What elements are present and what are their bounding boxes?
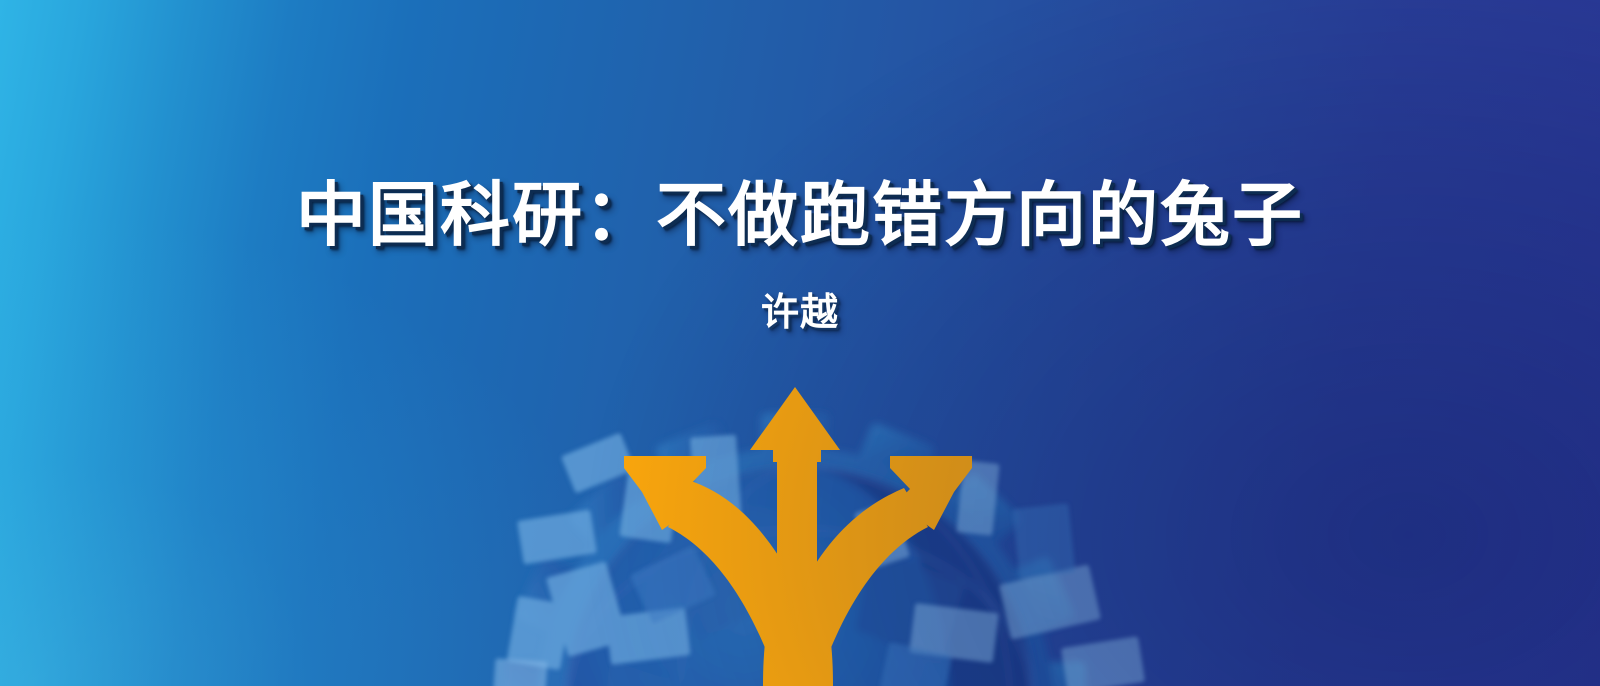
author-name: 许越: [0, 291, 1600, 337]
presentation-slide: 中国科研：不做跑错方向的兔子 许越: [0, 0, 1600, 686]
page-title: 中国科研：不做跑错方向的兔子: [0, 176, 1600, 256]
confetti-rectangles: [493, 432, 1146, 686]
title-slide-artwork: [0, 0, 1600, 686]
background-vignette: [0, 0, 1600, 686]
background-sheen: [0, 0, 1600, 686]
globe-shape: [568, 468, 1032, 686]
gear-shape: [502, 413, 1088, 686]
three-way-arrow-icon: [624, 387, 972, 686]
